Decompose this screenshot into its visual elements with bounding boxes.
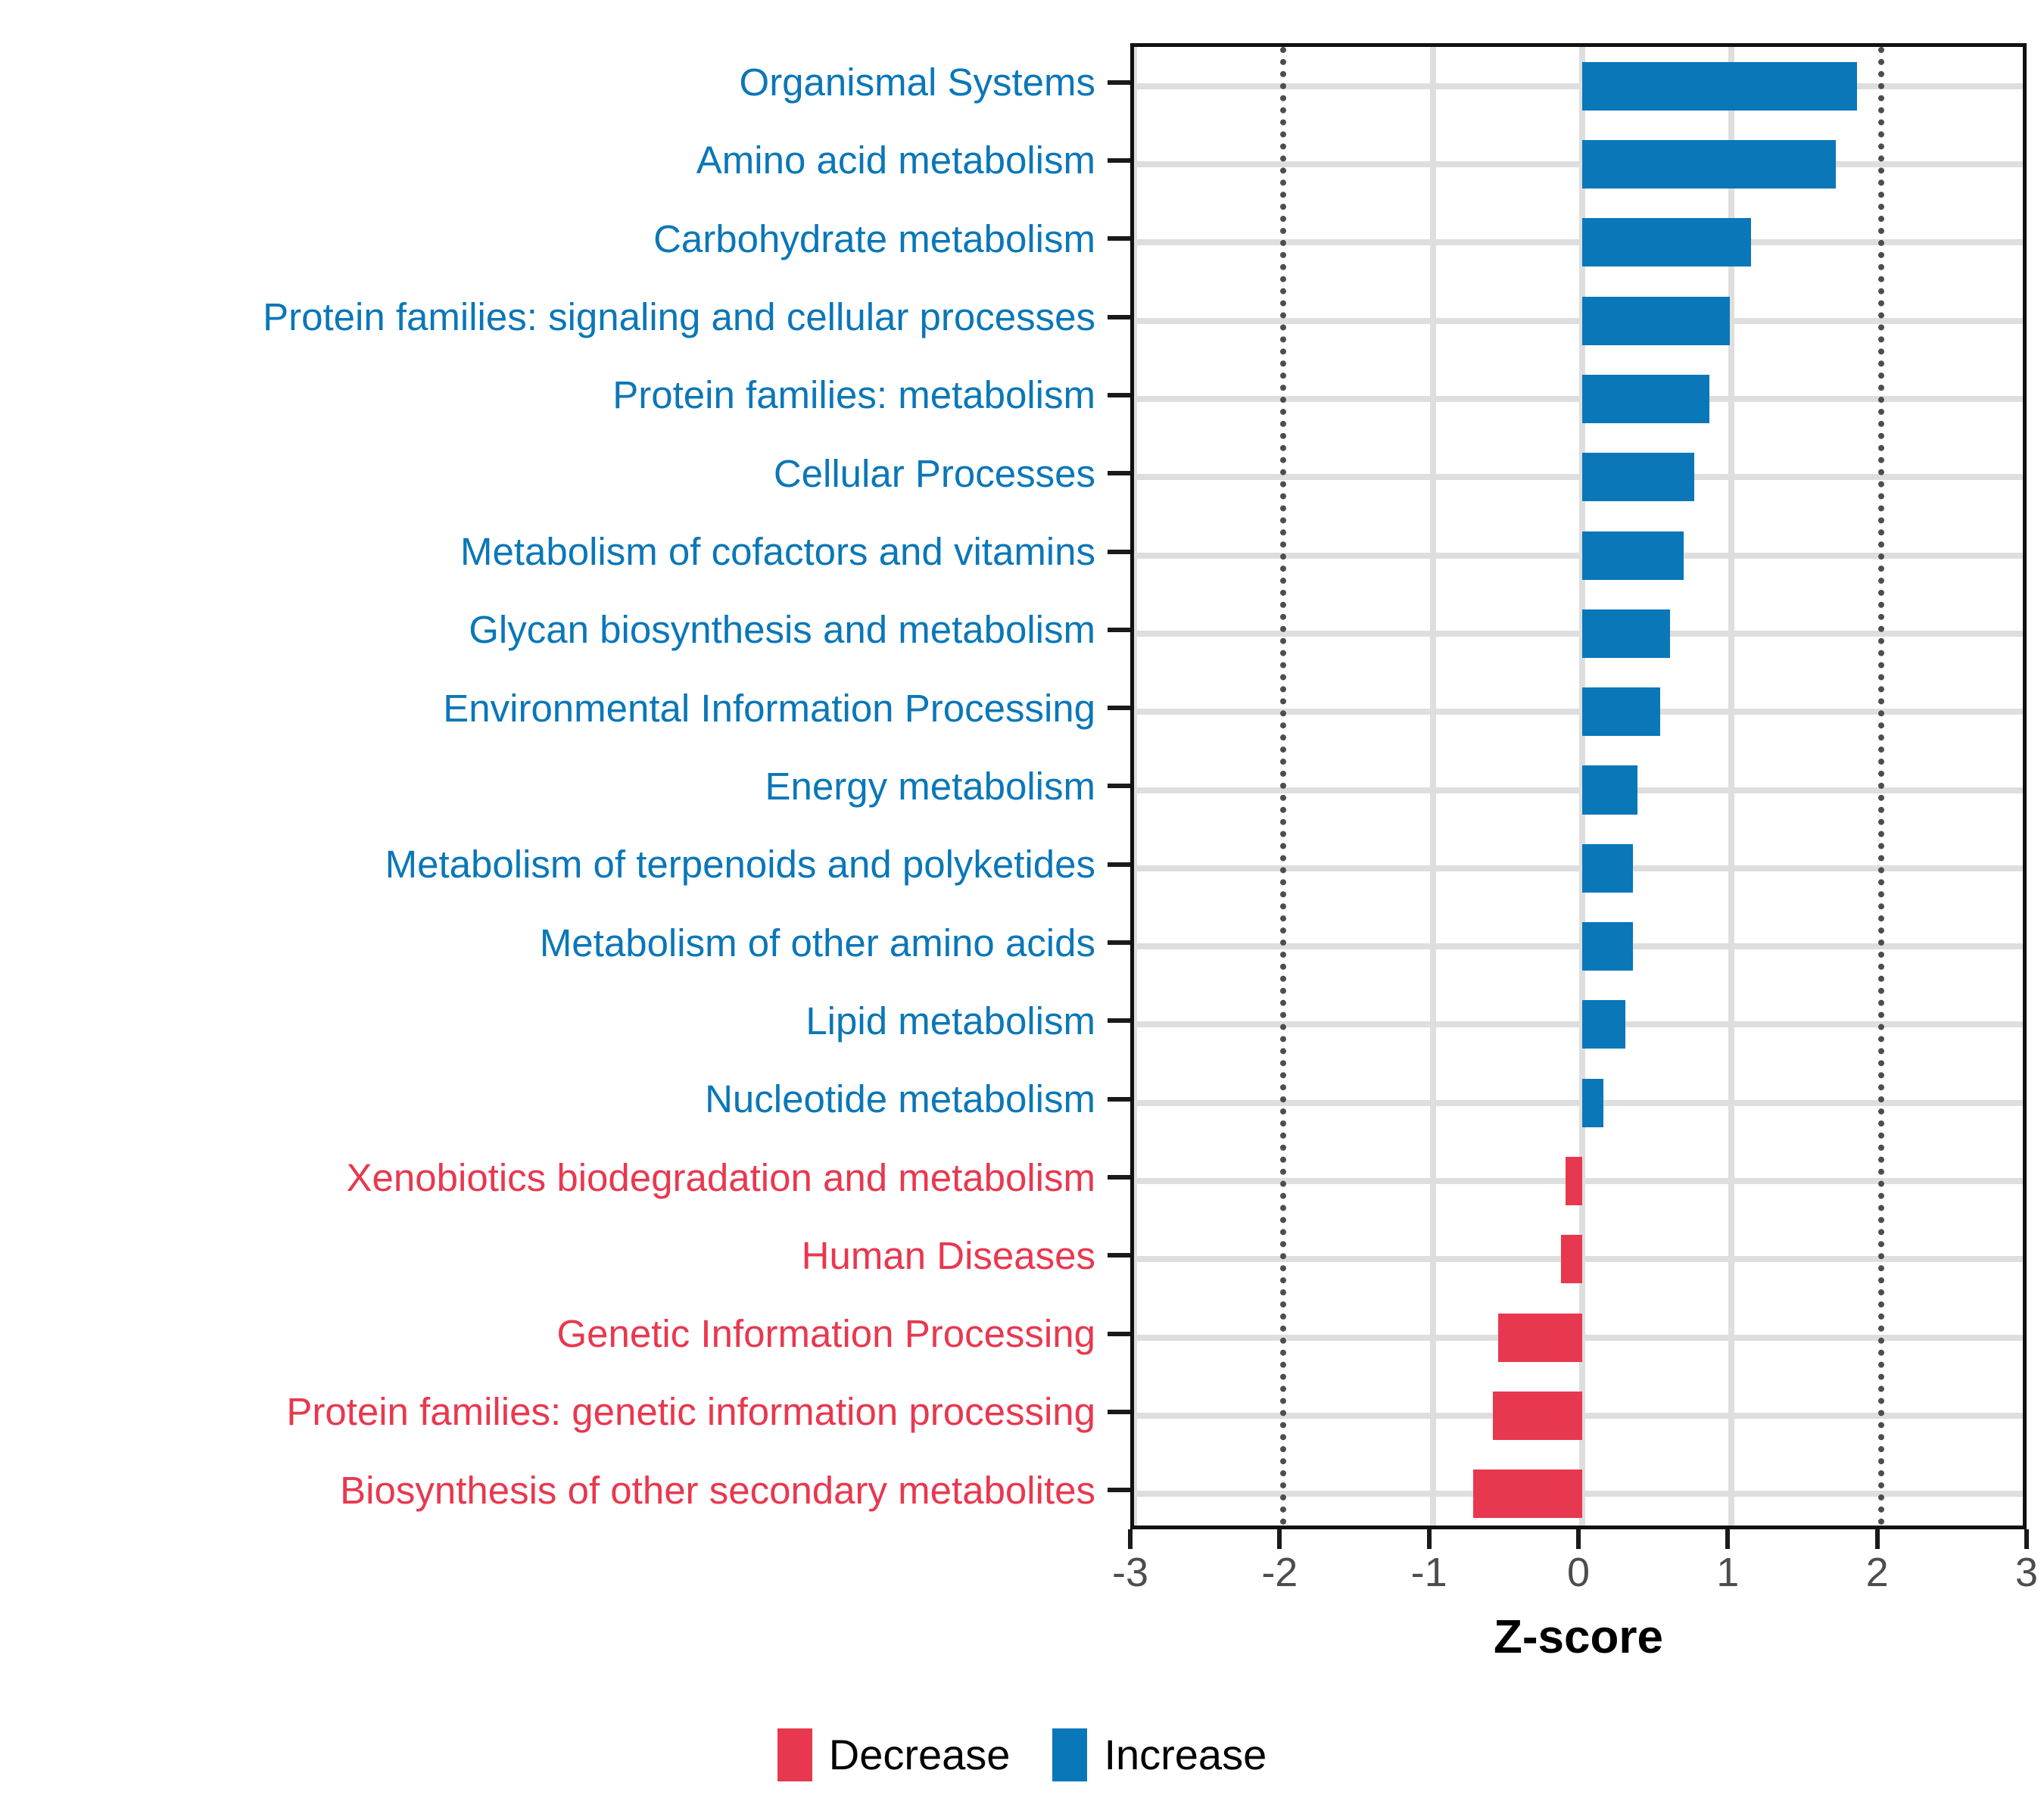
y-axis-label-row: Xenobiotics biodegradation and metabolis… [0, 1138, 1101, 1216]
y-axis-tick-row [1108, 669, 1130, 747]
y-axis-label: Nucleotide metabolism [705, 1080, 1095, 1118]
y-axis-tick-mark [1108, 80, 1130, 85]
x-axis-tick-mark [2024, 1529, 2029, 1549]
x-axis-tick-mark [1128, 1529, 1133, 1549]
bar-row [1134, 1000, 2023, 1049]
bar-row [1134, 453, 2023, 501]
bar [1582, 687, 1660, 736]
bar [1582, 765, 1637, 814]
bar [1566, 1157, 1582, 1205]
y-axis-tick-row [1108, 513, 1130, 591]
y-axis-tick-marks [1108, 43, 1130, 1529]
legend-label: Decrease [829, 1734, 1011, 1776]
y-axis-tick-row [1108, 1138, 1130, 1216]
x-axis-tick-label: 2 [1866, 1552, 1889, 1593]
bar-row [1134, 1079, 2023, 1127]
y-axis-label-row: Human Diseases [0, 1217, 1101, 1295]
y-axis-tick-row [1108, 982, 1130, 1060]
y-axis-label: Environmental Information Processing [443, 689, 1095, 728]
y-axis-tick-mark [1108, 1018, 1130, 1023]
bar [1582, 297, 1730, 345]
y-axis-label: Protein families: metabolism [612, 376, 1095, 414]
y-axis-tick-mark [1108, 940, 1130, 945]
y-axis-label-row: Nucleotide metabolism [0, 1060, 1101, 1138]
x-axis-tick-label: 1 [1716, 1552, 1739, 1593]
bar [1582, 1079, 1603, 1127]
y-axis-label-row: Protein families: signaling and cellular… [0, 278, 1101, 356]
bar-row [1134, 765, 2023, 814]
y-axis-label-row: Protein families: metabolism [0, 356, 1101, 434]
y-axis-tick-mark [1108, 1488, 1130, 1492]
y-axis-label-row: Cellular Processes [0, 435, 1101, 513]
plot-area [1134, 47, 2023, 1526]
x-axis-tick-label: -3 [1112, 1552, 1148, 1593]
x-axis-tick-mark [1725, 1529, 1730, 1549]
y-axis-label-row: Metabolism of terpenoids and polyketides [0, 825, 1101, 903]
bar [1582, 218, 1751, 266]
bar [1582, 1000, 1625, 1049]
y-axis-label-row: Metabolism of cofactors and vitamins [0, 513, 1101, 591]
x-axis-tick-mark [1277, 1529, 1282, 1549]
legend-swatch [777, 1728, 812, 1781]
y-axis-tick-row [1108, 747, 1130, 825]
y-axis-tick-row [1108, 1451, 1130, 1529]
bar [1582, 609, 1670, 658]
y-axis-label: Organismal Systems [740, 63, 1095, 101]
y-axis-tick-mark [1108, 784, 1130, 788]
y-axis-tick-row [1108, 825, 1130, 903]
bar-row [1134, 140, 2023, 189]
y-axis-label: Glycan biosynthesis and metabolism [469, 610, 1095, 649]
bar-row [1134, 62, 2023, 111]
y-axis-tick-mark [1108, 1253, 1130, 1258]
y-axis-tick-row [1108, 591, 1130, 669]
bar [1582, 375, 1709, 423]
legend-label: Increase [1104, 1734, 1267, 1776]
y-axis-tick-mark [1108, 1332, 1130, 1336]
bar-series [1134, 47, 2023, 1526]
y-axis-tick-mark [1108, 1097, 1130, 1102]
bar [1582, 62, 1857, 111]
bar [1561, 1235, 1582, 1283]
y-axis-label-row: Glycan biosynthesis and metabolism [0, 591, 1101, 669]
legend: DecreaseIncrease [0, 1728, 2044, 1781]
y-axis-label-row: Carbohydrate metabolism [0, 200, 1101, 278]
y-axis-label-row: Energy metabolism [0, 747, 1101, 825]
bar [1582, 453, 1694, 501]
y-axis-label-row: Lipid metabolism [0, 982, 1101, 1060]
y-axis-label: Xenobiotics biodegradation and metabolis… [347, 1158, 1095, 1197]
bar [1493, 1392, 1582, 1440]
bar-row [1134, 1235, 2023, 1283]
y-axis-tick-row [1108, 356, 1130, 434]
bar-row [1134, 922, 2023, 971]
y-axis-label: Metabolism of other amino acids [540, 924, 1095, 962]
y-axis-label-row: Biosynthesis of other secondary metaboli… [0, 1451, 1101, 1529]
y-axis-tick-mark [1108, 236, 1130, 241]
x-axis-tick-label: -1 [1411, 1552, 1447, 1593]
y-axis-tick-mark [1108, 550, 1130, 554]
x-axis-tick-mark [1576, 1529, 1581, 1549]
bar-row [1134, 687, 2023, 736]
y-axis-tick-mark [1108, 862, 1130, 867]
x-axis-tick-label: 3 [2015, 1552, 2038, 1593]
bar-row [1134, 297, 2023, 345]
y-axis-tick-mark [1108, 393, 1130, 397]
y-axis-label: Protein families: genetic information pr… [286, 1392, 1095, 1431]
z-score-bar-chart: Organismal SystemsAmino acid metabolismC… [0, 0, 2044, 1817]
y-axis-tick-row [1108, 1217, 1130, 1295]
y-axis-tick-row [1108, 1373, 1130, 1451]
bar [1498, 1314, 1582, 1362]
y-axis-label: Metabolism of terpenoids and polyketides [385, 845, 1095, 884]
bar-row [1134, 1157, 2023, 1205]
y-axis-label: Biosynthesis of other secondary metaboli… [340, 1471, 1095, 1510]
bar-row [1134, 1469, 2023, 1518]
y-axis-tick-mark [1108, 315, 1130, 319]
y-axis-category-labels: Organismal SystemsAmino acid metabolismC… [0, 43, 1101, 1529]
x-axis-tick-mark [1875, 1529, 1880, 1549]
y-axis-label: Genetic Information Processing [556, 1314, 1095, 1353]
bar [1582, 922, 1633, 971]
bar-row [1134, 218, 2023, 266]
y-axis-tick-mark [1108, 471, 1130, 475]
legend-item[interactable]: Increase [1052, 1728, 1267, 1781]
y-axis-tick-mark [1108, 1410, 1130, 1414]
bar-row [1134, 609, 2023, 658]
y-axis-tick-row [1108, 121, 1130, 199]
y-axis-label: Carbohydrate metabolism [653, 220, 1095, 258]
y-axis-tick-row [1108, 200, 1130, 278]
y-axis-label-row: Protein families: genetic information pr… [0, 1373, 1101, 1451]
bar-row [1134, 1314, 2023, 1362]
plot-panel [1130, 43, 2027, 1529]
bar-row [1134, 375, 2023, 423]
y-axis-tick-mark [1108, 706, 1130, 710]
y-axis-label: Protein families: signaling and cellular… [263, 298, 1095, 336]
bar-row [1134, 531, 2023, 580]
y-axis-label: Human Diseases [802, 1236, 1095, 1275]
bar [1582, 844, 1633, 893]
x-axis-tick-label: 0 [1567, 1552, 1590, 1593]
legend-item[interactable]: Decrease [777, 1728, 1011, 1781]
y-axis-label-row: Amino acid metabolism [0, 121, 1101, 199]
x-axis-tick-label: -2 [1261, 1552, 1298, 1593]
y-axis-tick-row [1108, 1060, 1130, 1138]
y-axis-label: Energy metabolism [765, 767, 1095, 806]
legend-swatch [1052, 1728, 1087, 1781]
bar-row [1134, 1392, 2023, 1440]
y-axis-label: Cellular Processes [774, 454, 1095, 493]
y-axis-label: Metabolism of cofactors and vitamins [460, 532, 1095, 571]
y-axis-label: Amino acid metabolism [696, 141, 1095, 179]
bar [1582, 140, 1836, 189]
bar [1473, 1469, 1582, 1518]
y-axis-tick-row [1108, 43, 1130, 121]
y-axis-tick-mark [1108, 1175, 1130, 1180]
x-axis-tick-mark [1427, 1529, 1432, 1549]
y-axis-tick-row [1108, 278, 1130, 356]
y-axis-label-row: Organismal Systems [0, 43, 1101, 121]
y-axis-label: Lipid metabolism [805, 1002, 1095, 1040]
y-axis-tick-row [1108, 1295, 1130, 1373]
y-axis-tick-mark [1108, 628, 1130, 632]
y-axis-label-row: Environmental Information Processing [0, 669, 1101, 747]
y-axis-tick-row [1108, 435, 1130, 513]
bar [1582, 531, 1684, 580]
bar-row [1134, 844, 2023, 893]
x-axis-title: Z-score [1130, 1614, 2027, 1661]
y-axis-tick-row [1108, 903, 1130, 981]
y-axis-label-row: Genetic Information Processing [0, 1295, 1101, 1373]
y-axis-tick-mark [1108, 158, 1130, 163]
y-axis-label-row: Metabolism of other amino acids [0, 903, 1101, 981]
